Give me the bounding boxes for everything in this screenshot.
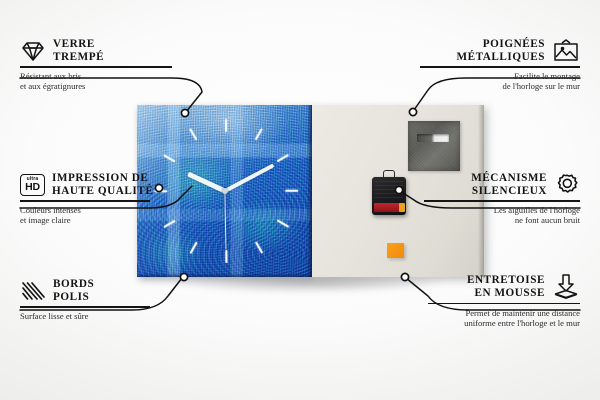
foam-spacer-arrow-icon [552,274,580,300]
hour-tick [189,241,198,253]
hour-tick [254,128,263,140]
mechanism-label-texture [375,181,403,199]
callout-rule [428,303,580,304]
mechanism-hook [383,170,395,179]
infographic-canvas: VERRE TREMPÉ Résistant aux bris et aux é… [0,0,600,400]
callout-subtitle: Couleurs intenses et image claire [20,205,166,226]
gear-icon [554,173,580,197]
callout-rule [420,66,580,67]
callout-impression-haute-qualite: ultra HD IMPRESSION DE HAUTE QUALITÉ Cou… [20,172,166,226]
battery-positive-terminal [399,203,405,212]
metal-texture [408,121,460,171]
hour-hand [187,172,225,193]
callout-title: VERRE TREMPÉ [53,38,104,63]
minute-hand [224,163,274,192]
keyhole-slot [417,134,449,142]
callout-rule [424,200,580,201]
callout-poignees-metalliques: POIGNÉES MÉTALLIQUES Facilite le montage… [420,38,580,92]
hour-tick [189,128,198,140]
callout-entretoise-en-mousse: ENTRETOISE EN MOUSSE Permet de maintenir… [428,274,580,328]
callout-title: BORDS POLIS [53,278,94,303]
hand-center-cap [222,188,228,194]
second-hand [224,191,226,249]
battery [374,203,403,212]
hour-tick [276,219,288,228]
callout-rule [20,306,150,307]
hour-tick [254,241,263,253]
callout-title: POIGNÉES MÉTALLIQUES [456,38,545,63]
hour-tick [225,250,227,263]
callout-subtitle: Surface lisse et sûre [20,311,170,321]
hour-tick [225,119,227,132]
callout-subtitle: Les aiguilles de l'horloge ne font aucun… [424,205,580,226]
callout-rule [20,66,172,67]
hour-tick [285,190,298,192]
panel-bottom-edge [137,273,312,277]
hour-tick [163,154,175,163]
callout-rule [20,200,150,201]
callout-subtitle: Facilite le montage de l'horloge sur le … [420,71,580,92]
callout-bords-polis: BORDS POLIS Surface lisse et sûre [20,278,170,321]
callout-mecanisme-silencieux: MÉCANISME SILENCIEUX Les aiguilles de l'… [424,172,580,226]
polished-edge-lines-icon [20,280,46,302]
callout-subtitle: Résistant aux bris et aux égratignures [20,71,175,92]
callout-title: MÉCANISME SILENCIEUX [471,172,547,197]
diamond-icon [20,40,46,62]
metal-hanger-plate [408,121,460,171]
quartz-mechanism-box [372,177,406,215]
callout-title: ENTRETOISE EN MOUSSE [467,274,545,299]
badge-hd-label: HD [25,182,40,193]
picture-hanger-icon [552,39,580,63]
ultra-hd-badge-icon: ultra HD [20,174,45,196]
foam-spacer-pad [387,243,404,258]
callout-verre-trempe: VERRE TREMPÉ Résistant aux bris et aux é… [20,38,175,92]
callout-title: IMPRESSION DE HAUTE QUALITÉ [52,172,153,197]
callout-subtitle: Permet de maintenir une distance uniform… [428,308,580,329]
hour-tick [276,154,288,163]
